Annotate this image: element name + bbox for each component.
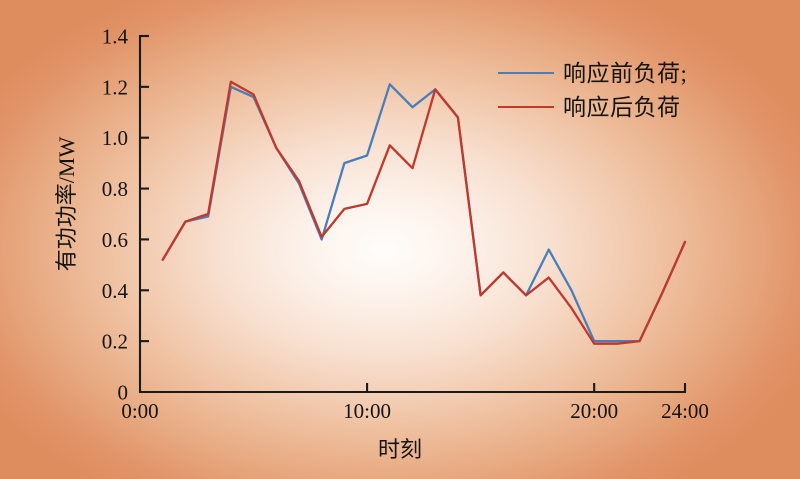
x-tick-label: 10:00 [343,399,391,423]
y-tick-label: 1.2 [102,75,128,99]
legend-label-after: 响应后负荷 [563,96,681,119]
x-tick-label: 20:00 [570,399,618,423]
x-axis-title: 时刻 [0,432,800,464]
y-tick-label: 0.6 [102,228,128,252]
x-tick-label: 24:00 [661,399,709,423]
x-tick-label: 0:00 [121,399,158,423]
series-line-before [163,84,685,341]
legend-swatch-after [498,106,554,108]
y-tick-label: 1.0 [102,126,128,150]
y-tick-label: 0.4 [102,279,129,303]
y-tick-label: 1.4 [102,25,129,49]
y-axis-title: 有功功率/MW [49,114,81,294]
legend-label-before: 响应前负荷; [563,62,687,85]
chart-legend: 响应前负荷; 响应后负荷 [498,58,687,122]
legend-swatch-before [498,72,554,74]
legend-item-before: 响应前负荷; [498,58,687,88]
chart-figure: 00.20.40.60.81.01.21.40:0010:0020:0024:0… [0,0,800,479]
y-tick-label: 0.2 [102,330,128,354]
y-tick-label: 0.8 [102,177,128,201]
legend-item-after: 响应后负荷 [498,92,687,122]
